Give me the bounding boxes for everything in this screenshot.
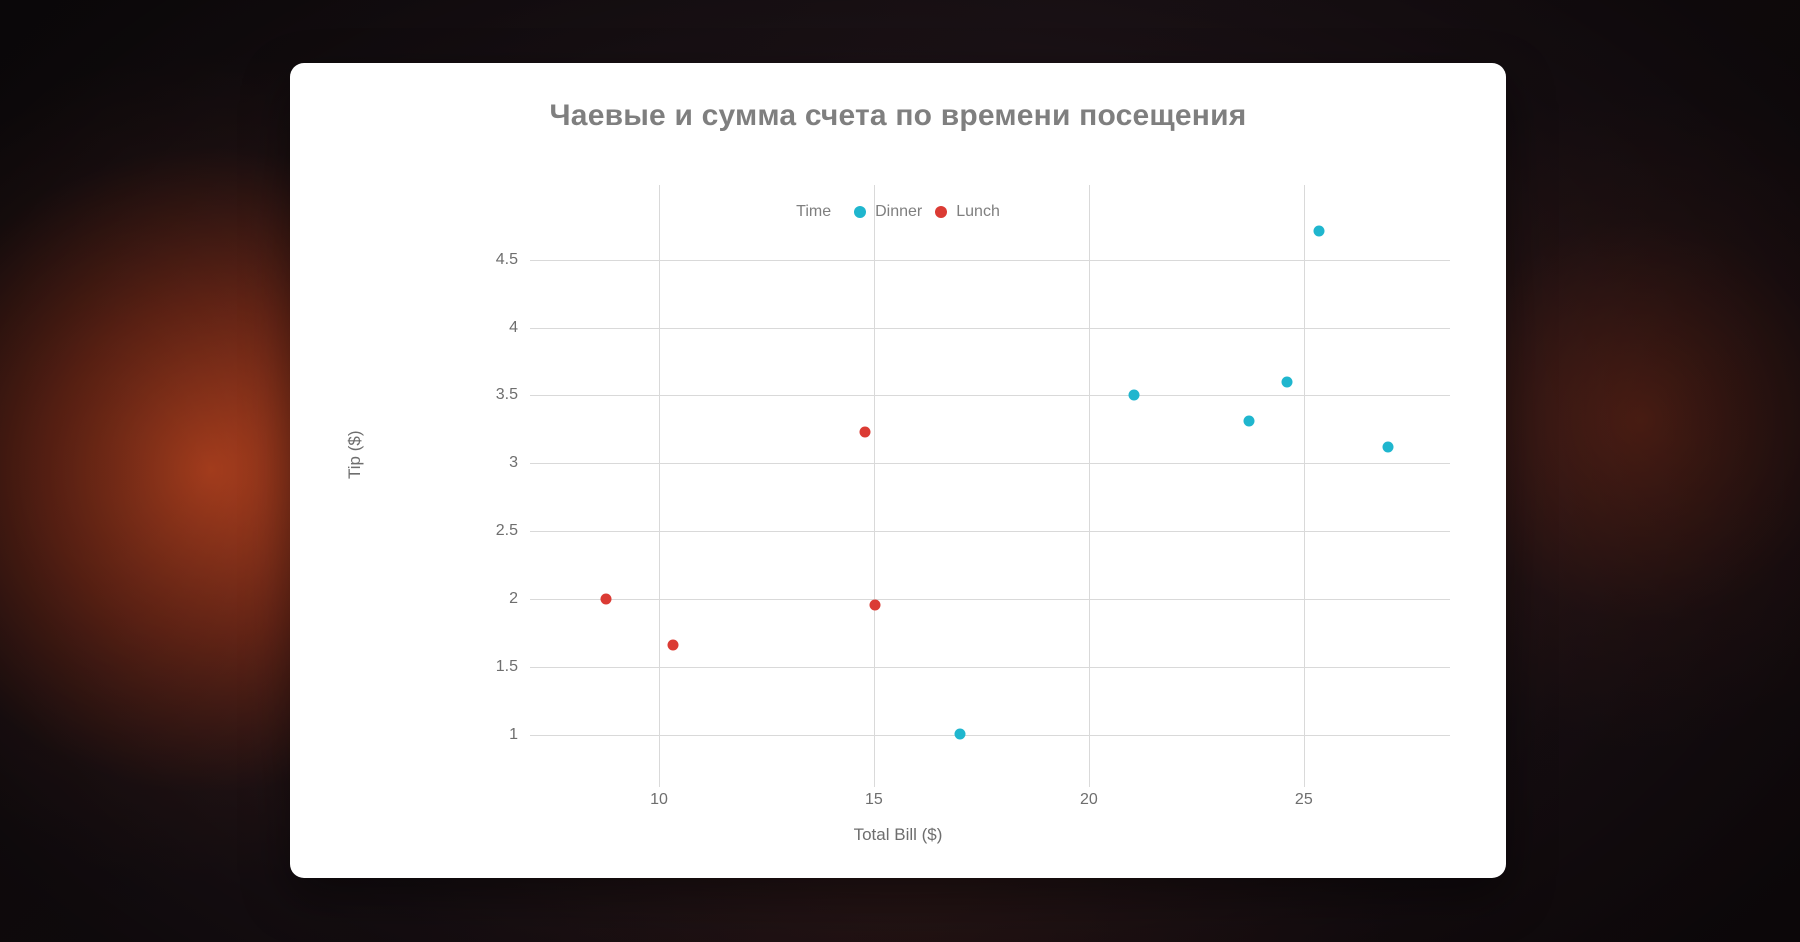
y-tick-label: 3.5 [496, 386, 518, 404]
y-gridline: 1 [530, 735, 1450, 736]
x-tick-mark [659, 773, 660, 787]
x-tick-label: 15 [865, 791, 883, 809]
x-tick-mark [1304, 773, 1305, 787]
data-point-lunch[interactable] [869, 599, 880, 610]
chart-card: Чаевые и сумма счета по времени посещени… [290, 63, 1506, 878]
y-gridline: 4.5 [530, 260, 1450, 261]
x-axis-label: Total Bill ($) [290, 825, 1506, 845]
plot-area: 11.522.533.544.510152025 [530, 185, 1450, 773]
data-point-lunch[interactable] [859, 427, 870, 438]
x-gridline [1089, 185, 1090, 773]
y-gridline: 3 [530, 463, 1450, 464]
y-tick-label: 4 [509, 319, 518, 337]
y-tick-label: 2.5 [496, 522, 518, 540]
y-axis-label: Tip ($) [345, 431, 365, 480]
data-point-dinner[interactable] [954, 728, 965, 739]
y-gridline: 1.5 [530, 667, 1450, 668]
x-tick-mark [1089, 773, 1090, 787]
x-gridline [659, 185, 660, 773]
y-gridline: 2 [530, 599, 1450, 600]
x-tick-mark [874, 773, 875, 787]
y-tick-label: 1 [509, 726, 518, 744]
x-gridline [874, 185, 875, 773]
x-tick-label: 20 [1080, 791, 1098, 809]
y-gridline: 4 [530, 328, 1450, 329]
y-tick-label: 1.5 [496, 658, 518, 676]
y-tick-label: 3 [509, 454, 518, 472]
data-point-lunch[interactable] [601, 594, 612, 605]
data-point-dinner[interactable] [1129, 390, 1140, 401]
data-point-lunch[interactable] [668, 640, 679, 651]
y-tick-label: 4.5 [496, 251, 518, 269]
plot-wrapper: 11.522.533.544.510152025 Tip ($) Total B… [290, 63, 1506, 878]
data-point-dinner[interactable] [1382, 442, 1393, 453]
data-point-dinner[interactable] [1282, 376, 1293, 387]
y-gridline: 2.5 [530, 531, 1450, 532]
x-gridline [1304, 185, 1305, 773]
y-gridline: 3.5 [530, 395, 1450, 396]
y-tick-label: 2 [509, 590, 518, 608]
x-tick-label: 10 [650, 791, 668, 809]
data-point-dinner[interactable] [1244, 416, 1255, 427]
x-tick-label: 25 [1295, 791, 1313, 809]
data-point-dinner[interactable] [1313, 226, 1324, 237]
